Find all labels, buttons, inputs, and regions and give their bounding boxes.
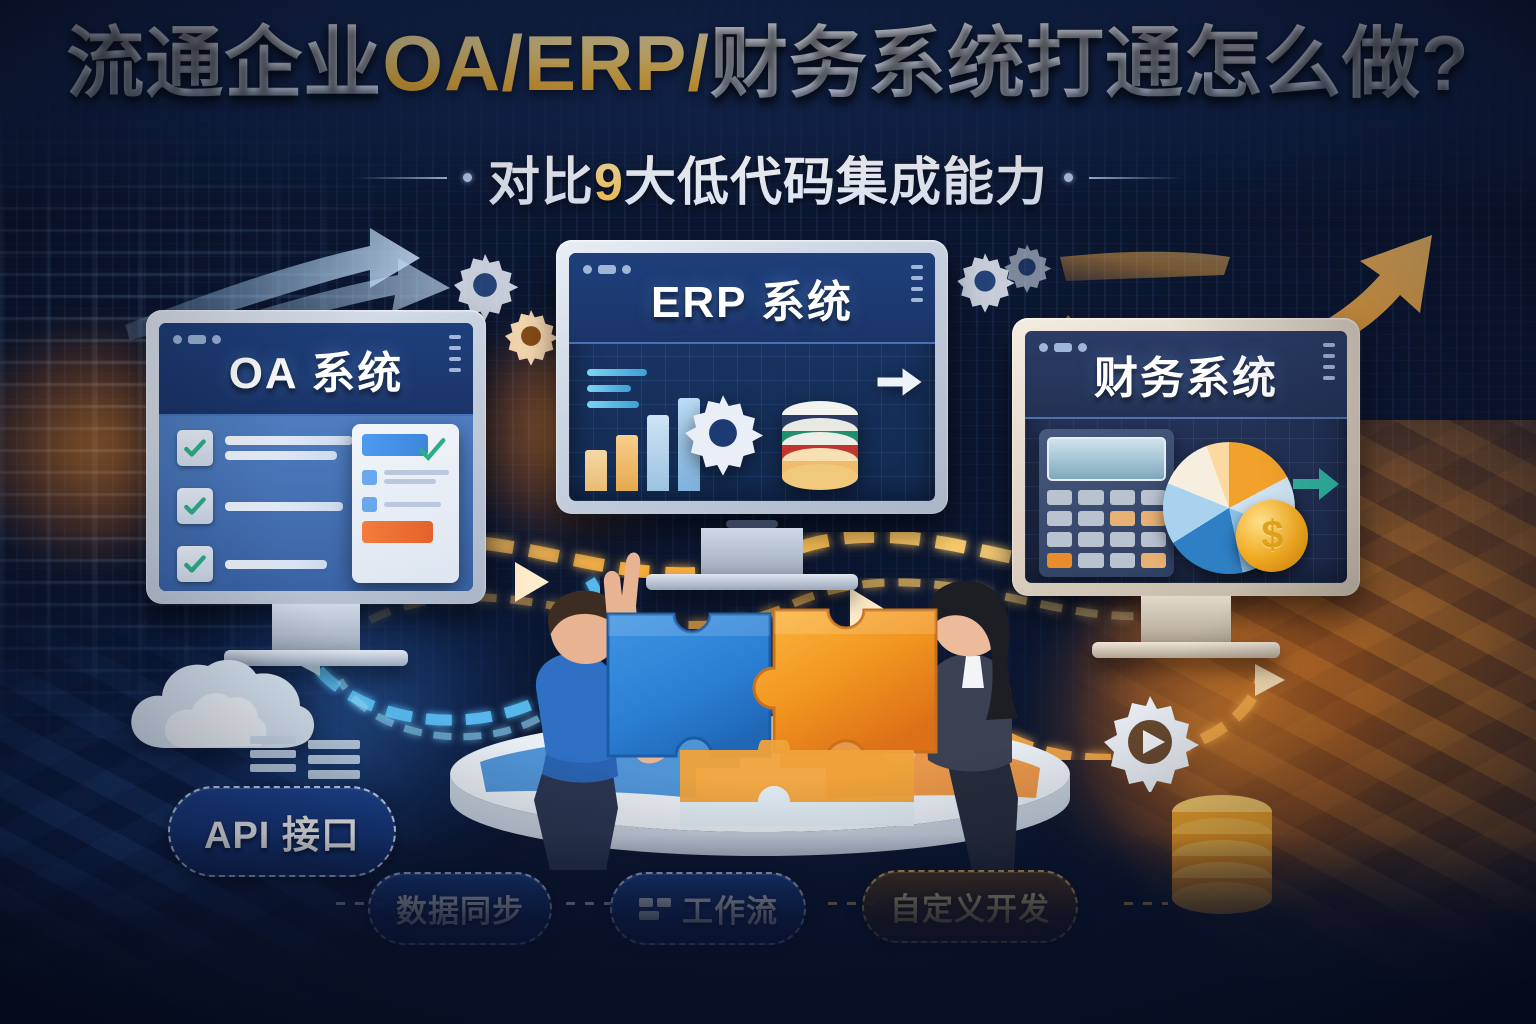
subtitle-lead: 对比: [488, 154, 594, 212]
monitor-erp-stand: [701, 528, 803, 574]
calculator-keys: [1047, 490, 1166, 568]
oa-checklist: [177, 430, 353, 591]
status-dots-icon: [911, 265, 923, 302]
monitor-oa-screen: OA 系统: [159, 323, 473, 591]
monitor-erp-titlebar: ERP 系统: [569, 253, 935, 344]
cloud-icon: [118, 648, 328, 768]
dollar-coin-icon: $: [1236, 500, 1308, 572]
checkmark-icon: [177, 488, 213, 524]
list-item[interactable]: [177, 488, 353, 524]
poster-canvas: 流通企业OA/ERP/财务系统打通怎么做? 对比9大低代码集成能力 OA 系统: [0, 0, 1536, 1024]
monitor-finance-body: $: [1025, 419, 1347, 583]
erp-dashboard: [581, 356, 923, 491]
subtitle-rule-left: [355, 177, 447, 179]
subtitle-dot-right: [1064, 173, 1073, 182]
arrow-right-icon: [1291, 465, 1341, 503]
monitor-finance-stand: [1141, 596, 1231, 642]
subtitle-number: 9: [594, 154, 624, 212]
gear-icon: [682, 379, 764, 487]
title-part1: 流通企业: [66, 19, 382, 107]
monitor-erp-base: [646, 574, 858, 590]
monitor-finance-bezel: 财务系统: [1012, 318, 1360, 596]
window-controls-icon: [583, 265, 631, 274]
bottom-fade: [0, 834, 1536, 1024]
list-item-lines: [225, 430, 353, 466]
title-highlight: OA/ERP/: [382, 19, 710, 107]
monitor-oa-bezel: OA 系统: [146, 310, 486, 604]
monitor-finance-title: 财务系统: [1094, 342, 1278, 406]
window-controls-icon: [173, 335, 221, 344]
checkmark-icon: [177, 430, 213, 466]
bar-chart-icon: [581, 356, 672, 491]
monitor-oa-titlebar: OA 系统: [159, 323, 473, 416]
list-item[interactable]: [177, 430, 353, 466]
monitor-finance[interactable]: 财务系统: [1012, 318, 1360, 658]
title-part2: 财务系统打通怎么做?: [710, 19, 1470, 107]
oa-card-action-bar[interactable]: [362, 521, 433, 543]
monitor-oa-title: OA 系统: [229, 337, 404, 401]
page-subtitle: 对比9大低代码集成能力: [488, 140, 1048, 215]
oa-card-row: [362, 497, 449, 512]
subtitle-row: 对比9大低代码集成能力: [0, 140, 1536, 215]
monitor-finance-titlebar: 财务系统: [1025, 331, 1347, 419]
monitor-oa-body: [159, 416, 473, 591]
arrow-right-icon: [876, 360, 923, 404]
checkmark-icon: [177, 546, 213, 582]
subtitle-tail: 大低代码集成能力: [624, 154, 1048, 212]
monitor-erp-title: ERP 系统: [651, 266, 853, 330]
subtitle-dot-left: [463, 173, 472, 182]
checkmark-icon: [417, 434, 447, 464]
status-dots-icon: [1323, 343, 1335, 380]
monitor-erp-notch: [726, 520, 778, 528]
calculator-display: [1047, 437, 1166, 481]
monitor-oa[interactable]: OA 系统: [146, 310, 486, 666]
monitor-oa-stand: [272, 604, 360, 650]
page-title: 流通企业OA/ERP/财务系统打通怎么做?: [0, 22, 1536, 105]
subtitle-rule-right: [1089, 177, 1181, 179]
monitor-erp-bezel: ERP 系统: [556, 240, 948, 514]
list-item[interactable]: [177, 546, 353, 582]
monitor-finance-screen: 财务系统: [1025, 331, 1347, 583]
database-icon: [774, 395, 866, 491]
window-controls-icon: [1039, 343, 1087, 352]
monitor-erp[interactable]: ERP 系统: [556, 240, 948, 590]
oa-form-card[interactable]: [352, 424, 459, 583]
calculator-icon[interactable]: [1039, 429, 1174, 577]
list-item-lines: [225, 496, 353, 517]
status-dots-icon: [449, 335, 461, 372]
list-item-lines: [225, 554, 353, 575]
monitor-erp-body: [569, 344, 935, 501]
monitor-finance-base: [1092, 642, 1280, 658]
oa-card-row: [362, 466, 449, 488]
monitor-erp-screen: ERP 系统: [569, 253, 935, 501]
